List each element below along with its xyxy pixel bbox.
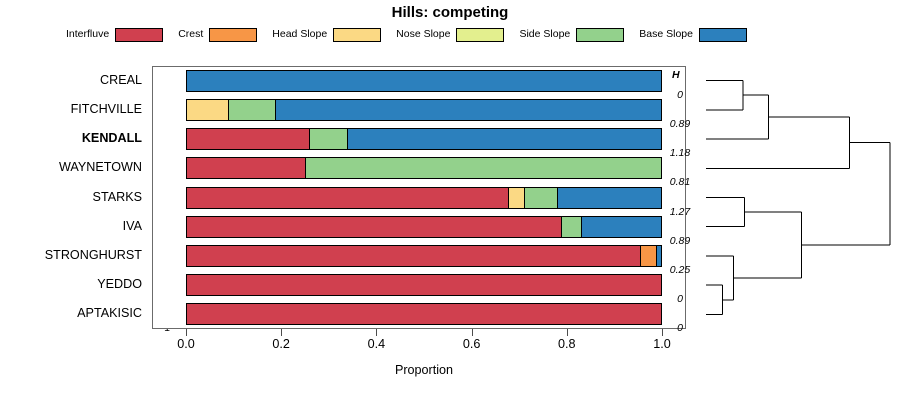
legend-item-label: Base Slope — [639, 29, 693, 40]
x-tick-label: 0.8 — [558, 338, 576, 351]
legend-item-label: Nose Slope — [396, 29, 450, 40]
x-tick-mark — [472, 329, 473, 336]
legend-swatch-icon — [209, 28, 257, 42]
x-tick-mark — [281, 329, 282, 336]
x-tick-mark — [567, 329, 568, 336]
h-value: 0.89 — [666, 119, 694, 130]
h-value: 0.81 — [666, 177, 694, 188]
bar-row — [186, 128, 662, 150]
bar-segment-base-slope — [582, 217, 661, 237]
row-label-kendall: KENDALL — [82, 132, 142, 145]
legend-swatch-icon — [699, 28, 747, 42]
bar-row — [186, 245, 662, 267]
row-label-yeddo: YEDDO — [97, 278, 142, 291]
bar-segment-head-slope — [187, 100, 229, 120]
legend-item[interactable]: Side Slope — [519, 28, 624, 42]
bar-segment-head-slope — [509, 188, 525, 208]
x-tick-mark — [376, 329, 377, 336]
row-label-waynetown: WAYNETOWN — [59, 161, 142, 174]
h-column-header: H — [672, 70, 680, 81]
row-label-fitchville: FITCHVILLE — [71, 103, 142, 116]
row-label-column: CREALFITCHVILLEKENDALLWAYNETOWNSTARKSIVA… — [0, 66, 148, 329]
dendrogram — [700, 66, 900, 329]
h-value: 0.25 — [666, 265, 694, 276]
x-tick-label: 0.4 — [368, 338, 386, 351]
bar-segment-base-slope — [558, 188, 661, 208]
x-tick-label: 0.0 — [177, 338, 195, 351]
row-label-iva: IVA — [123, 220, 142, 233]
dendrogram-svg — [700, 66, 895, 329]
x-tick-label: 0.6 — [463, 338, 481, 351]
bar-segment-base-slope — [276, 100, 661, 120]
legend-item-label: Side Slope — [519, 29, 570, 40]
row-label-aptakisic: APTAKISIC — [77, 307, 142, 320]
page-title: Hills: competing — [0, 4, 900, 21]
legend-swatch-icon — [333, 28, 381, 42]
bar-segment-side-slope — [562, 217, 582, 237]
legend-swatch-icon — [115, 28, 163, 42]
row-label-creal: CREAL — [100, 74, 142, 87]
bar-segment-interfluve — [187, 188, 509, 208]
x-tick-label: 0.2 — [272, 338, 290, 351]
legend-item-label: Interfluve — [66, 29, 109, 40]
bar-segment-interfluve — [187, 217, 562, 237]
h-value: 1.27 — [666, 207, 694, 218]
h-value: 0.89 — [666, 236, 694, 247]
legend-item[interactable]: Head Slope — [272, 28, 381, 42]
h-value: 1.18 — [666, 148, 694, 159]
bar-segment-interfluve — [187, 129, 310, 149]
bar-segment-side-slope — [306, 158, 662, 178]
bar-segment-side-slope — [310, 129, 348, 149]
bar-segment-side-slope — [525, 188, 558, 208]
legend: InterfluveCrestHead SlopeNose SlopeSide … — [66, 26, 766, 43]
bar-segment-interfluve — [187, 158, 306, 178]
h-column: H00.891.180.811.270.890.2500 — [662, 66, 702, 329]
legend-swatch-icon — [576, 28, 624, 42]
legend-item[interactable]: Base Slope — [639, 28, 747, 42]
legend-swatch-icon — [456, 28, 504, 42]
stacked-bars — [186, 66, 662, 329]
bar-segment-base-slope — [657, 246, 661, 266]
h-value: 0 — [666, 294, 694, 305]
x-tick-label: 1.0 — [653, 338, 671, 351]
legend-item[interactable]: Nose Slope — [396, 28, 504, 42]
bar-segment-base-slope — [348, 129, 661, 149]
x-tick-mark — [186, 329, 187, 336]
bar-row — [186, 303, 662, 325]
legend-item-label: Crest — [178, 29, 203, 40]
bar-segment-interfluve — [187, 275, 661, 295]
legend-item[interactable]: Interfluve — [66, 28, 163, 42]
bar-row — [186, 274, 662, 296]
row-label-stronghurst: STRONGHURST — [45, 249, 142, 262]
legend-item[interactable]: Crest — [178, 28, 257, 42]
legend-item-label: Head Slope — [272, 29, 327, 40]
bar-row — [186, 187, 662, 209]
bar-row — [186, 70, 662, 92]
bar-row — [186, 99, 662, 121]
h-value: 0 — [666, 90, 694, 101]
bar-segment-side-slope — [229, 100, 276, 120]
bar-segment-base-slope — [187, 71, 661, 91]
row-label-starks: STARKS — [93, 191, 142, 204]
bar-segment-crest — [641, 246, 657, 266]
bar-row — [186, 216, 662, 238]
bar-segment-interfluve — [187, 304, 661, 324]
bar-segment-interfluve — [187, 246, 641, 266]
bar-row — [186, 157, 662, 179]
x-tick-mark — [662, 329, 663, 336]
x-axis-title: Proportion — [186, 363, 662, 377]
